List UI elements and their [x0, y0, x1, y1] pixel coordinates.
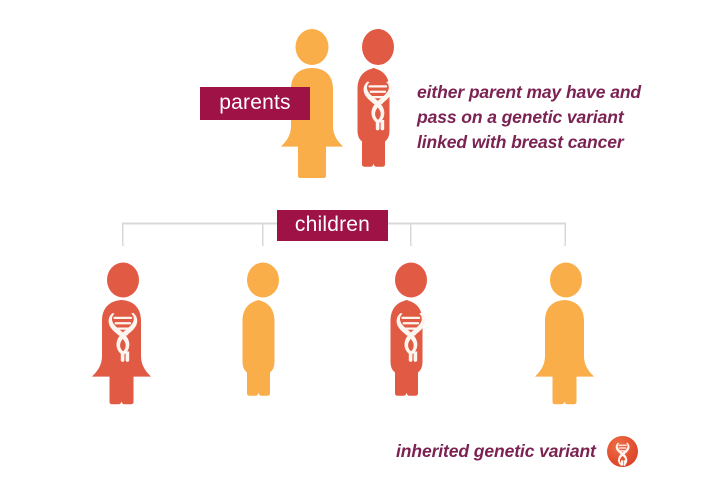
parent-figure-father [349, 28, 407, 178]
male-figure-orange-icon [234, 262, 292, 406]
legend-label: inherited genetic variant [396, 441, 596, 462]
parents-explanation-note: either parent may have and pass on a gen… [417, 80, 679, 155]
parents-label-badge: parents [200, 87, 310, 120]
dna-variant-circle-icon [607, 436, 638, 467]
male-figure-red-with-variant-icon [382, 262, 440, 406]
female-figure-orange-icon [533, 262, 599, 406]
child-figure-3 [382, 262, 440, 406]
child-figure-2 [234, 262, 292, 406]
note-line-2: pass on a genetic variant [417, 105, 679, 130]
child-figure-1 [90, 262, 156, 406]
child-figure-4 [533, 262, 599, 406]
note-line-1: either parent may have and [417, 80, 679, 105]
legend: inherited genetic variant [396, 436, 638, 467]
note-line-3: linked with breast cancer [417, 130, 679, 155]
infographic-canvas: parents either parent may have and pass … [0, 0, 720, 501]
children-label-badge: children [277, 210, 388, 241]
female-figure-red-with-variant-icon [90, 262, 156, 406]
male-figure-red-with-variant-icon [349, 28, 407, 178]
